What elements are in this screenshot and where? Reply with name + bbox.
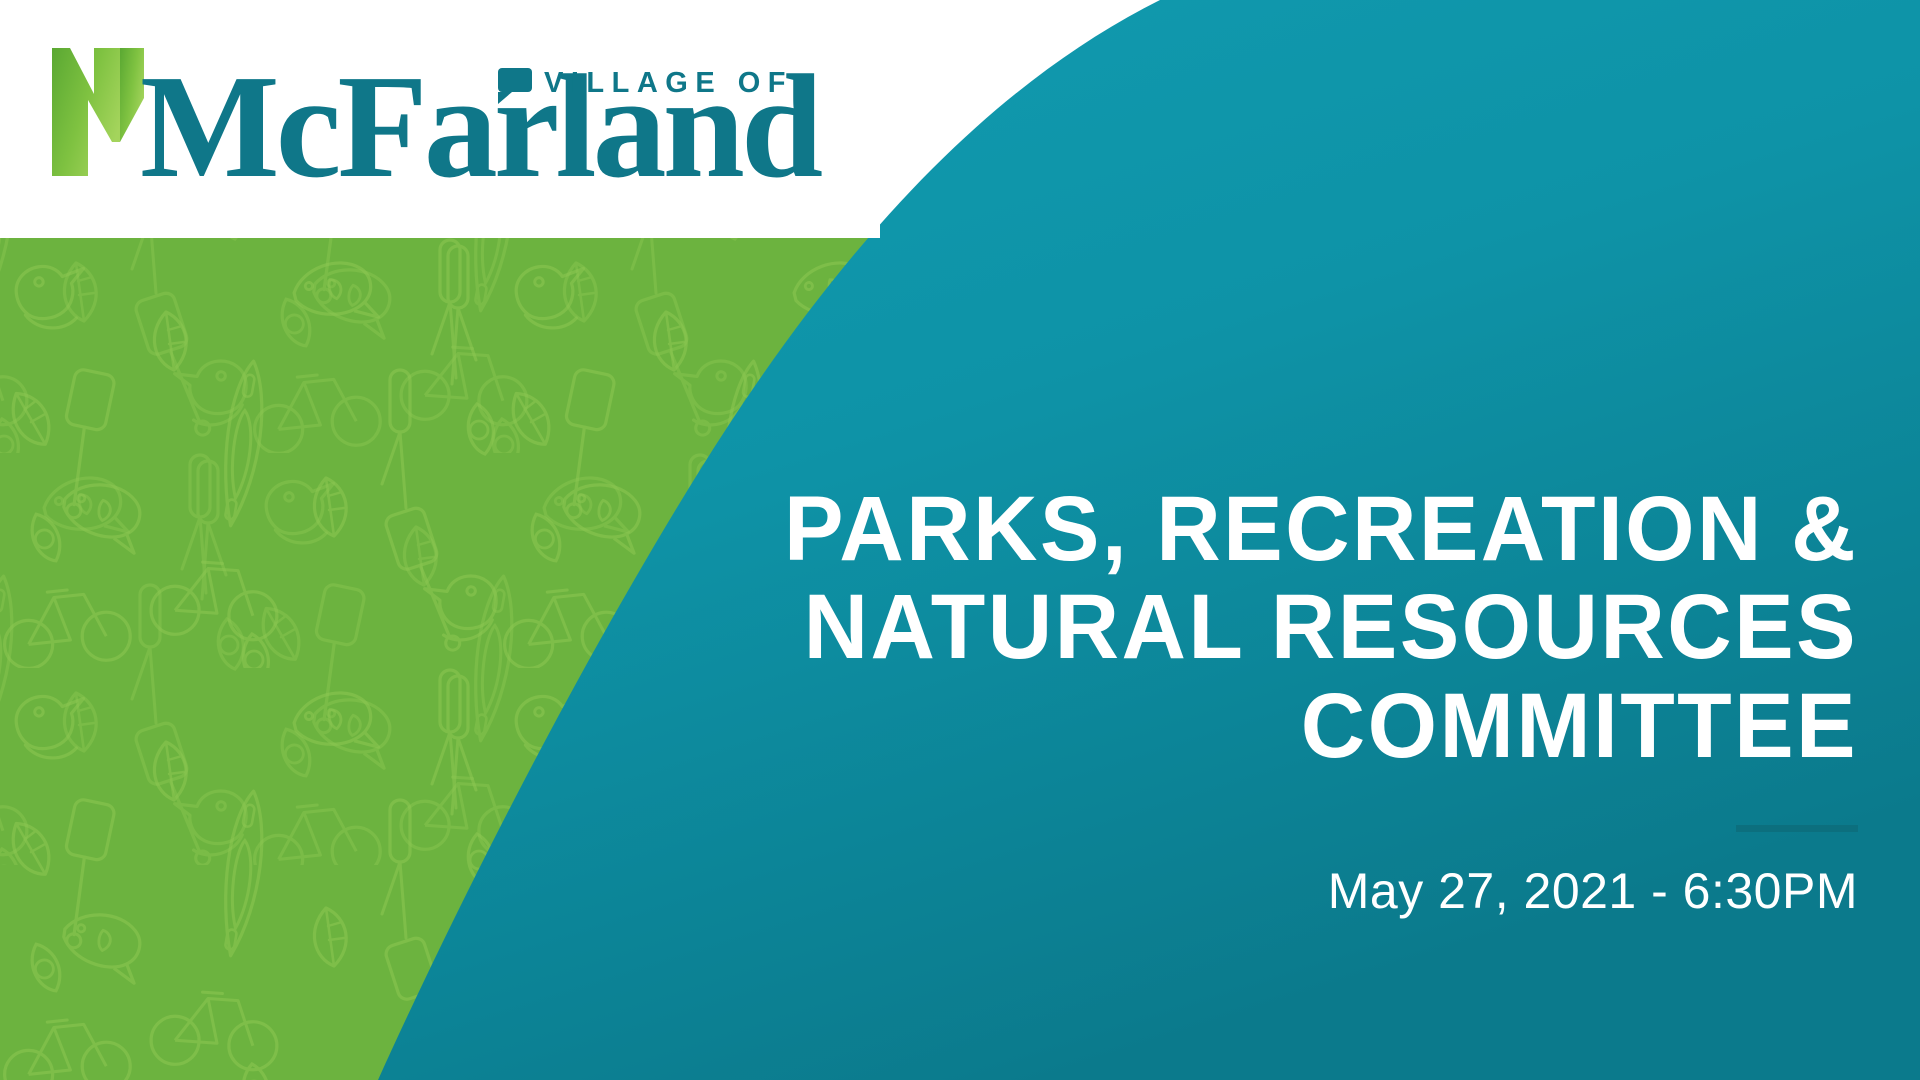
slide-content: PARKS, RECREATION & NATURAL RESOURCES CO…: [618, 480, 1858, 920]
village-of-mcfarland-logo[interactable]: McFarland VILLAGE OF: [46, 30, 946, 190]
title-date-divider-wrap: [618, 775, 1858, 832]
logo-eyebrow: VILLAGE OF: [544, 67, 793, 99]
event-date-time: May 27, 2021 - 6:30PM: [618, 862, 1858, 920]
pennant-icon: [498, 68, 532, 92]
title-line-2: NATURAL RESOURCES: [655, 578, 1858, 676]
title-line-3: COMMITTEE: [655, 677, 1858, 775]
divider-rule: [1736, 825, 1858, 832]
title-line-1: PARKS, RECREATION &: [655, 480, 1858, 578]
logo-m-mark: [52, 48, 144, 176]
page-title: PARKS, RECREATION & NATURAL RESOURCES CO…: [655, 480, 1858, 775]
slide-canvas: McFarland VILLAGE OF PARKS, RECREATION &…: [0, 0, 1920, 1080]
